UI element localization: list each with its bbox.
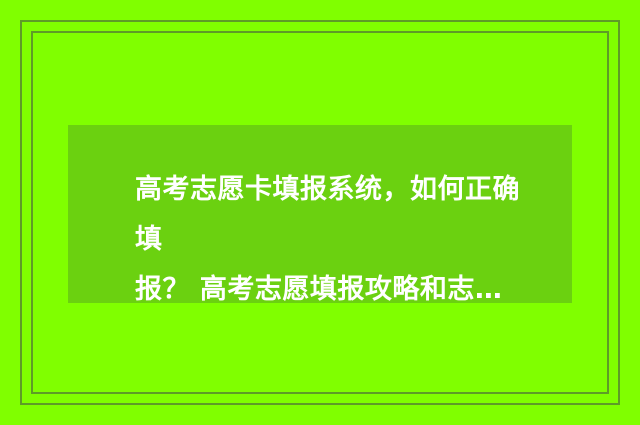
headline-panel: 高考志愿卡填报系统，如何正确填 报？ 高考志愿填报攻略和志… [68, 125, 572, 303]
page-canvas: 高考志愿卡填报系统，如何正确填 报？ 高考志愿填报攻略和志… [0, 0, 640, 425]
headline-text: 高考志愿卡填报系统，如何正确填 报？ 高考志愿填报攻略和志… [135, 165, 535, 315]
